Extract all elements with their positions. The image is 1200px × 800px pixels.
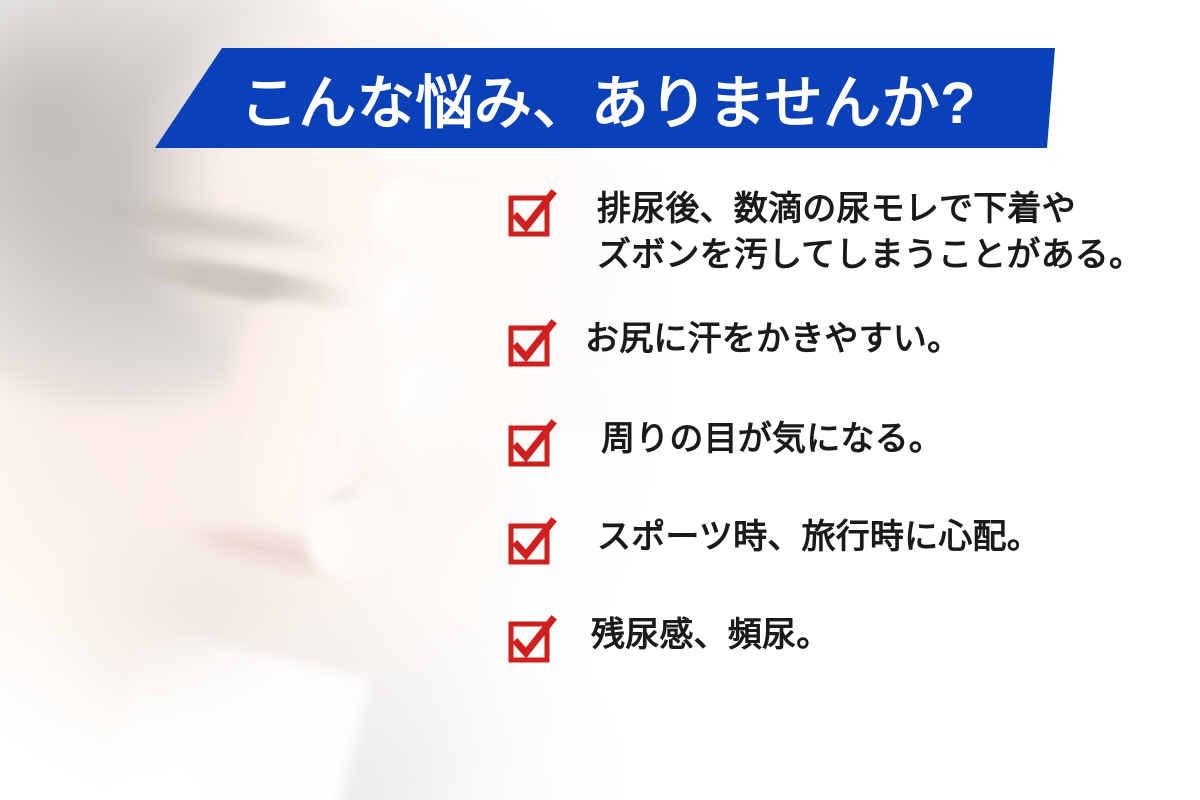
checklist-item: 残尿感、頻尿。 <box>505 612 1195 666</box>
headline-text: こんな悩み、ありませんか? <box>155 48 1055 148</box>
checked-checkbox-icon <box>505 192 553 240</box>
headline-banner: こんな悩み、ありませんか? <box>155 48 1055 148</box>
checklist-item-label: お尻に汗をかきやすい。 <box>575 316 961 362</box>
concerns-checklist: 排尿後、数滴の尿モレで下着や ズボンを汚してしまうことがある。 お尻に汗をかきや… <box>505 186 1195 666</box>
checked-checkbox-icon <box>505 520 553 568</box>
checklist-item-label: 残尿感、頻尿。 <box>575 612 830 658</box>
checklist-item: お尻に汗をかきやすい。 <box>505 316 1195 370</box>
promo-banner-slide: こんな悩み、ありませんか? 排尿後、数滴の尿モレで下着や ズボンを汚してしまうこ… <box>0 0 1200 800</box>
checklist-item: 周りの目が気になる。 <box>505 416 1195 470</box>
checked-checkbox-icon <box>505 322 553 370</box>
checked-checkbox-icon <box>505 618 553 666</box>
checked-checkbox-icon <box>505 422 553 470</box>
checklist-item-label: 周りの目が気になる。 <box>575 416 943 462</box>
checklist-item-label: 排尿後、数滴の尿モレで下着や ズボンを汚してしまうことがある。 <box>575 186 1143 278</box>
checklist-item-label: スポーツ時、旅行時に心配。 <box>575 514 1041 560</box>
checklist-item: 排尿後、数滴の尿モレで下着や ズボンを汚してしまうことがある。 <box>505 186 1195 278</box>
checklist-item: スポーツ時、旅行時に心配。 <box>505 514 1195 568</box>
